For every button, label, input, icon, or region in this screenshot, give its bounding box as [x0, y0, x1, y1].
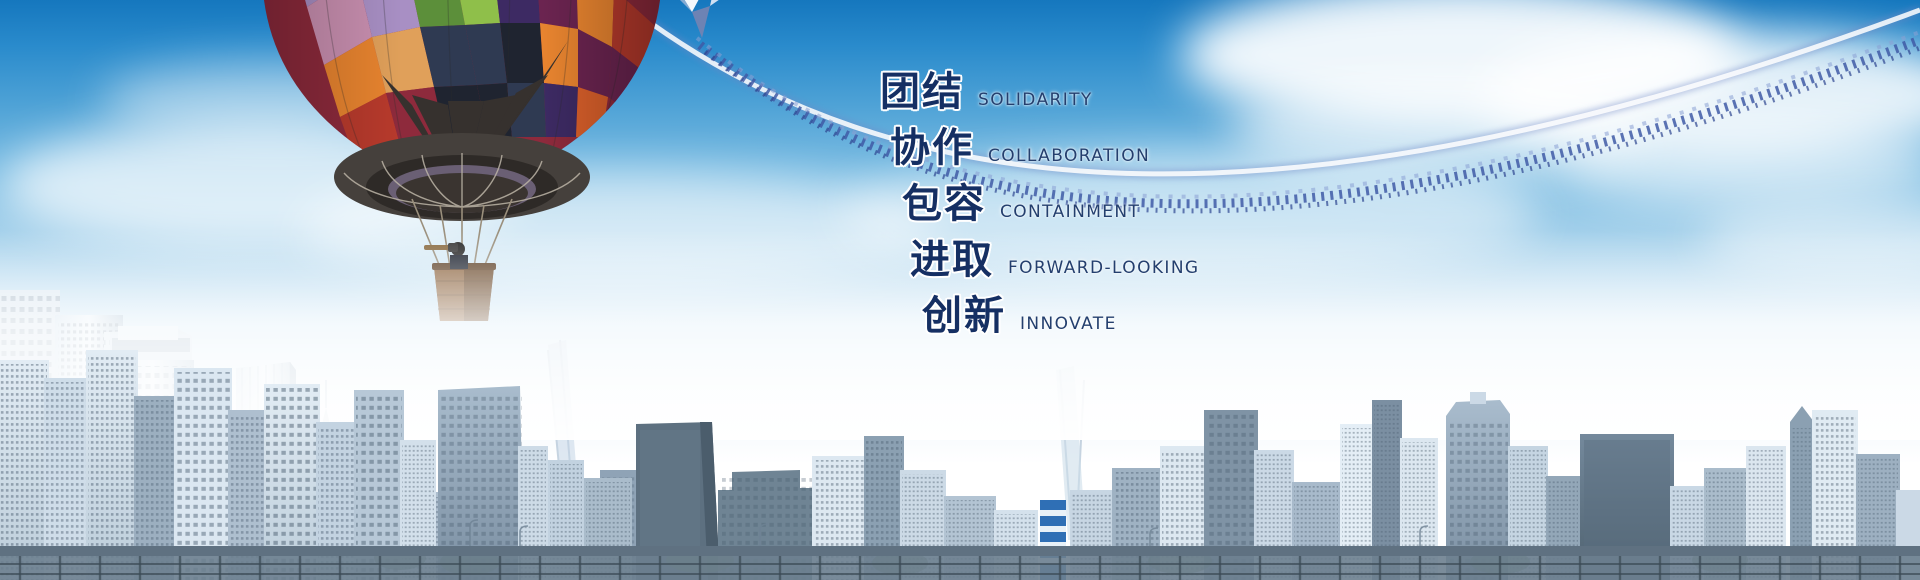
value-row: 团结 SOLIDARITY [880, 58, 1480, 114]
value-chinese: 进取 [910, 238, 994, 282]
corporate-values-list: 团结 SOLIDARITY 协作 COLLABORATION 包容 CONTAI… [860, 58, 1480, 388]
value-chinese: 包容 [902, 182, 986, 226]
value-english: INNOVATE [1020, 314, 1117, 334]
value-chinese: 创新 [922, 294, 1006, 338]
value-row: 协作 COLLABORATION [890, 114, 1480, 170]
hero-banner: 团结 SOLIDARITY 协作 COLLABORATION 包容 CONTAI… [0, 0, 1920, 580]
value-row: 进取 FORWARD-LOOKING [910, 226, 1480, 282]
value-english: CONTAINMENT [1000, 202, 1140, 222]
paper-plane-icon [650, 0, 780, 50]
value-row: 包容 CONTAINMENT [902, 170, 1480, 226]
value-chinese: 团结 [880, 70, 964, 114]
value-english: FORWARD-LOOKING [1008, 258, 1200, 278]
hot-air-balloon-icon [262, 0, 662, 335]
value-english: SOLIDARITY [978, 90, 1093, 110]
balloon-basket [432, 263, 496, 321]
value-english: COLLABORATION [988, 146, 1150, 166]
value-row: 创新 INNOVATE [922, 282, 1480, 338]
value-chinese: 协作 [890, 126, 974, 170]
bridge-railing [0, 546, 1920, 580]
